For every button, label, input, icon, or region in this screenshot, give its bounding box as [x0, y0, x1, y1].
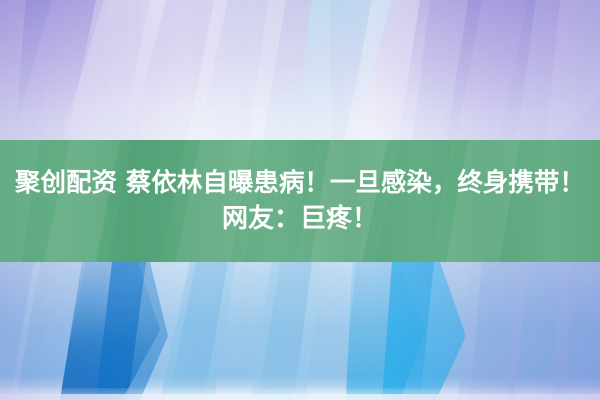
headline-text-block: 聚创配资 蔡依林自曝患病！一旦感染，终身携带！ 网友：巨疼！: [0, 140, 600, 262]
banner-image: 聚创配资 蔡依林自曝患病！一旦感染，终身携带！ 网友：巨疼！ ...: [0, 0, 600, 400]
watermark-text: ...: [0, 387, 600, 397]
headline-line-2: 网友：巨疼！: [222, 202, 378, 236]
headline-line-1: 聚创配资 蔡依林自曝患病！一旦感染，终身携带！: [15, 166, 585, 200]
